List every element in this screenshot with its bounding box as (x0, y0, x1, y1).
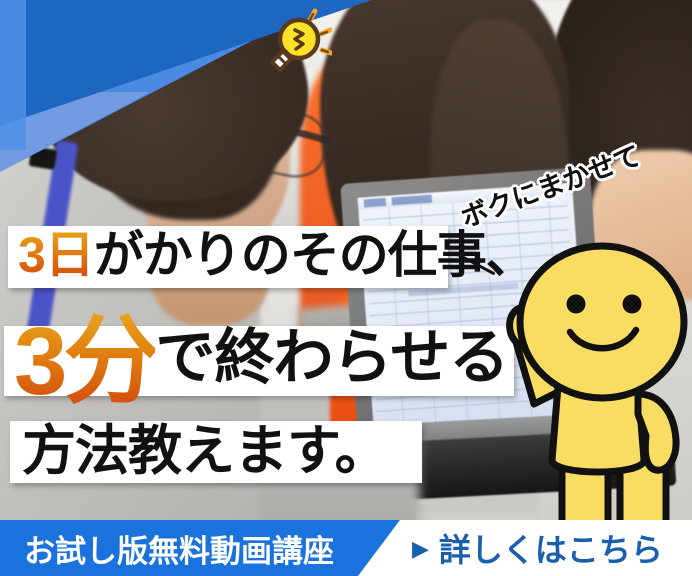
headline-line-2: 3分で終わらせる (14, 312, 508, 404)
cta-link-label: 詳しくはこちら (439, 525, 663, 571)
headline-2-rest: で終わらせる (155, 324, 508, 391)
cta-bar: お試し版無料動画講座 ▶ 詳しくはこちら (0, 520, 692, 576)
lightbulb-icon (262, 8, 332, 82)
corner-accent-strip (0, 0, 26, 150)
play-triangle-icon: ▶ (412, 538, 429, 560)
headline-2-highlight: 3分 (14, 308, 155, 415)
cta-blue-label[interactable]: お試し版無料動画講座 (24, 520, 334, 576)
headline-1-rest: がかりのその仕事、 (94, 227, 535, 283)
yellow-character-mascot (498, 236, 692, 528)
headline-1-highlight: 3日 (18, 227, 94, 283)
headline-line-3: 方法教えます。 (22, 419, 388, 483)
cta-link[interactable]: ▶ 詳しくはこちら (412, 520, 663, 576)
ad-banner: 3日がかりのその仕事、 3分で終わらせる 方法教えます。 ボクにまかせて (0, 0, 692, 576)
